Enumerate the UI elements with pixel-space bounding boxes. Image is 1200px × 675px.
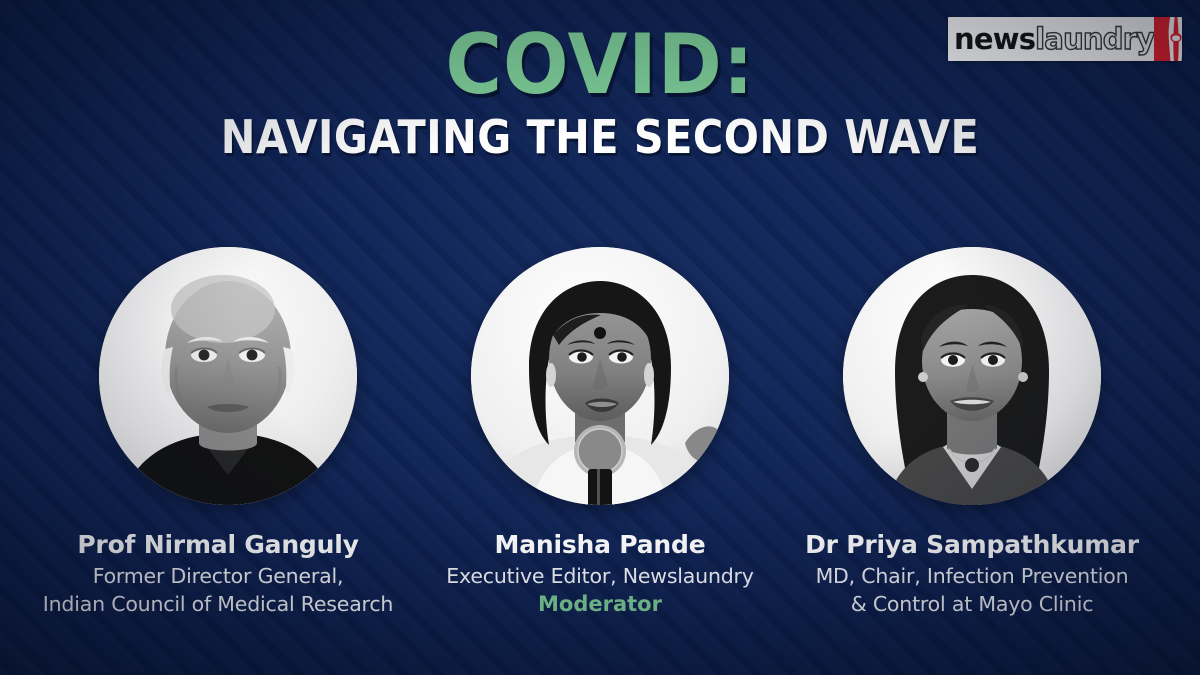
speaker-role-line1: Former Director General, [28, 564, 408, 590]
portrait-manisha-pande [471, 247, 729, 505]
speaker-card: Dr Priya Sampathkumar MD, Chair, Infecti… [802, 247, 1142, 618]
speaker-name: Dr Priya Sampathkumar [782, 529, 1162, 561]
speaker-list: Prof Nirmal Ganguly Former Director Gene… [0, 247, 1200, 618]
speaker-moderator-tag: Moderator [446, 591, 753, 617]
speaker-info: Dr Priya Sampathkumar MD, Chair, Infecti… [782, 529, 1162, 618]
speaker-card: Prof Nirmal Ganguly Former Director Gene… [58, 247, 398, 618]
page-subtitle: NAVIGATING THE SECOND WAVE [60, 113, 1140, 161]
speaker-info: Prof Nirmal Ganguly Former Director Gene… [28, 529, 408, 618]
title-block: COVID: NAVIGATING THE SECOND WAVE [0, 26, 1200, 161]
speaker-role-line1: Executive Editor, Newslaundry [446, 564, 753, 590]
speaker-role-line1: MD, Chair, Infection Prevention [782, 564, 1162, 590]
speaker-name: Manisha Pande [446, 529, 753, 561]
speaker-card: Manisha Pande Executive Editor, Newslaun… [430, 247, 770, 618]
speaker-info: Manisha Pande Executive Editor, Newslaun… [446, 529, 753, 618]
speaker-role-line2: Indian Council of Medical Research [28, 592, 408, 618]
poster-canvas: newslaundry COVID: NAVIGATING THE SECOND… [0, 0, 1200, 675]
speaker-name: Prof Nirmal Ganguly [28, 529, 408, 561]
speaker-role-line2: & Control at Mayo Clinic [782, 592, 1162, 618]
portrait-priya-sampathkumar [843, 247, 1101, 505]
portrait-nirmal-ganguly [99, 247, 357, 505]
page-title: COVID: [42, 26, 1158, 105]
